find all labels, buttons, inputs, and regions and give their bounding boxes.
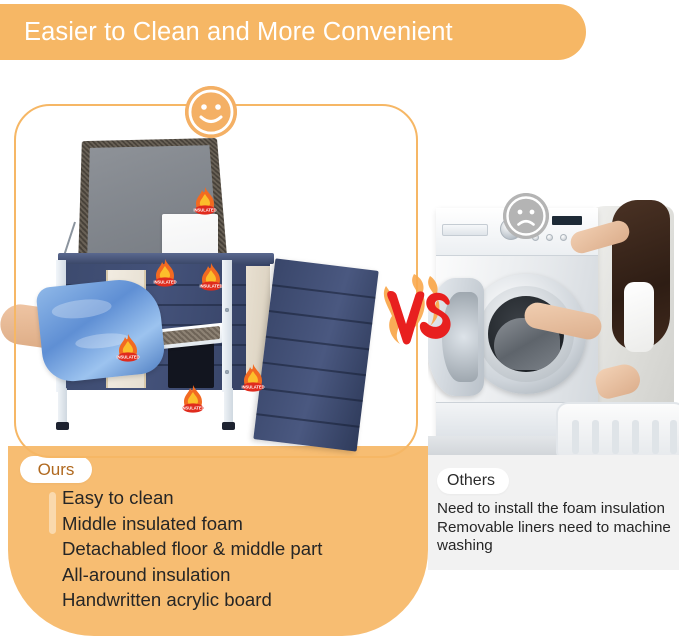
ours-label: Ours <box>38 460 75 480</box>
ours-label-pill: Ours <box>20 456 92 483</box>
list-item: All-around insulation <box>62 562 412 588</box>
page-title: Easier to Clean and More Convenient <box>24 18 453 47</box>
others-label: Others <box>447 472 495 490</box>
sad-face-icon <box>503 193 549 239</box>
ours-photo-frame <box>14 104 418 458</box>
list-item: Easy to clean <box>62 485 412 511</box>
versus-badge <box>378 272 456 356</box>
comparison-infographic: Easier to Clean and More Convenient <box>0 0 679 636</box>
washing-machine-button <box>560 234 567 241</box>
list-item: Handwritten acrylic board <box>62 587 412 613</box>
washing-machine-display <box>552 216 582 225</box>
header-banner: Easier to Clean and More Convenient <box>0 4 586 60</box>
washing-machine-button <box>546 234 553 241</box>
smiley-face-icon <box>185 86 237 138</box>
list-item: Middle insulated foam <box>62 511 412 537</box>
ours-feature-list: Easy to clean Middle insulated foam Deta… <box>62 485 412 613</box>
list-item: Detachabled floor & middle part <box>62 536 412 562</box>
laundry-basket <box>556 402 679 455</box>
ours-accent-line <box>49 492 56 534</box>
others-label-pill: Others <box>437 468 509 494</box>
list-item: Need to install the foam insulation <box>437 500 675 519</box>
list-item: Removable liners need to machine <box>437 519 675 538</box>
list-item: washing <box>437 537 675 556</box>
woman-top <box>624 282 654 352</box>
others-product-image <box>428 190 679 455</box>
detergent-drawer <box>442 224 488 236</box>
others-drawback-list: Need to install the foam insulation Remo… <box>437 500 675 556</box>
